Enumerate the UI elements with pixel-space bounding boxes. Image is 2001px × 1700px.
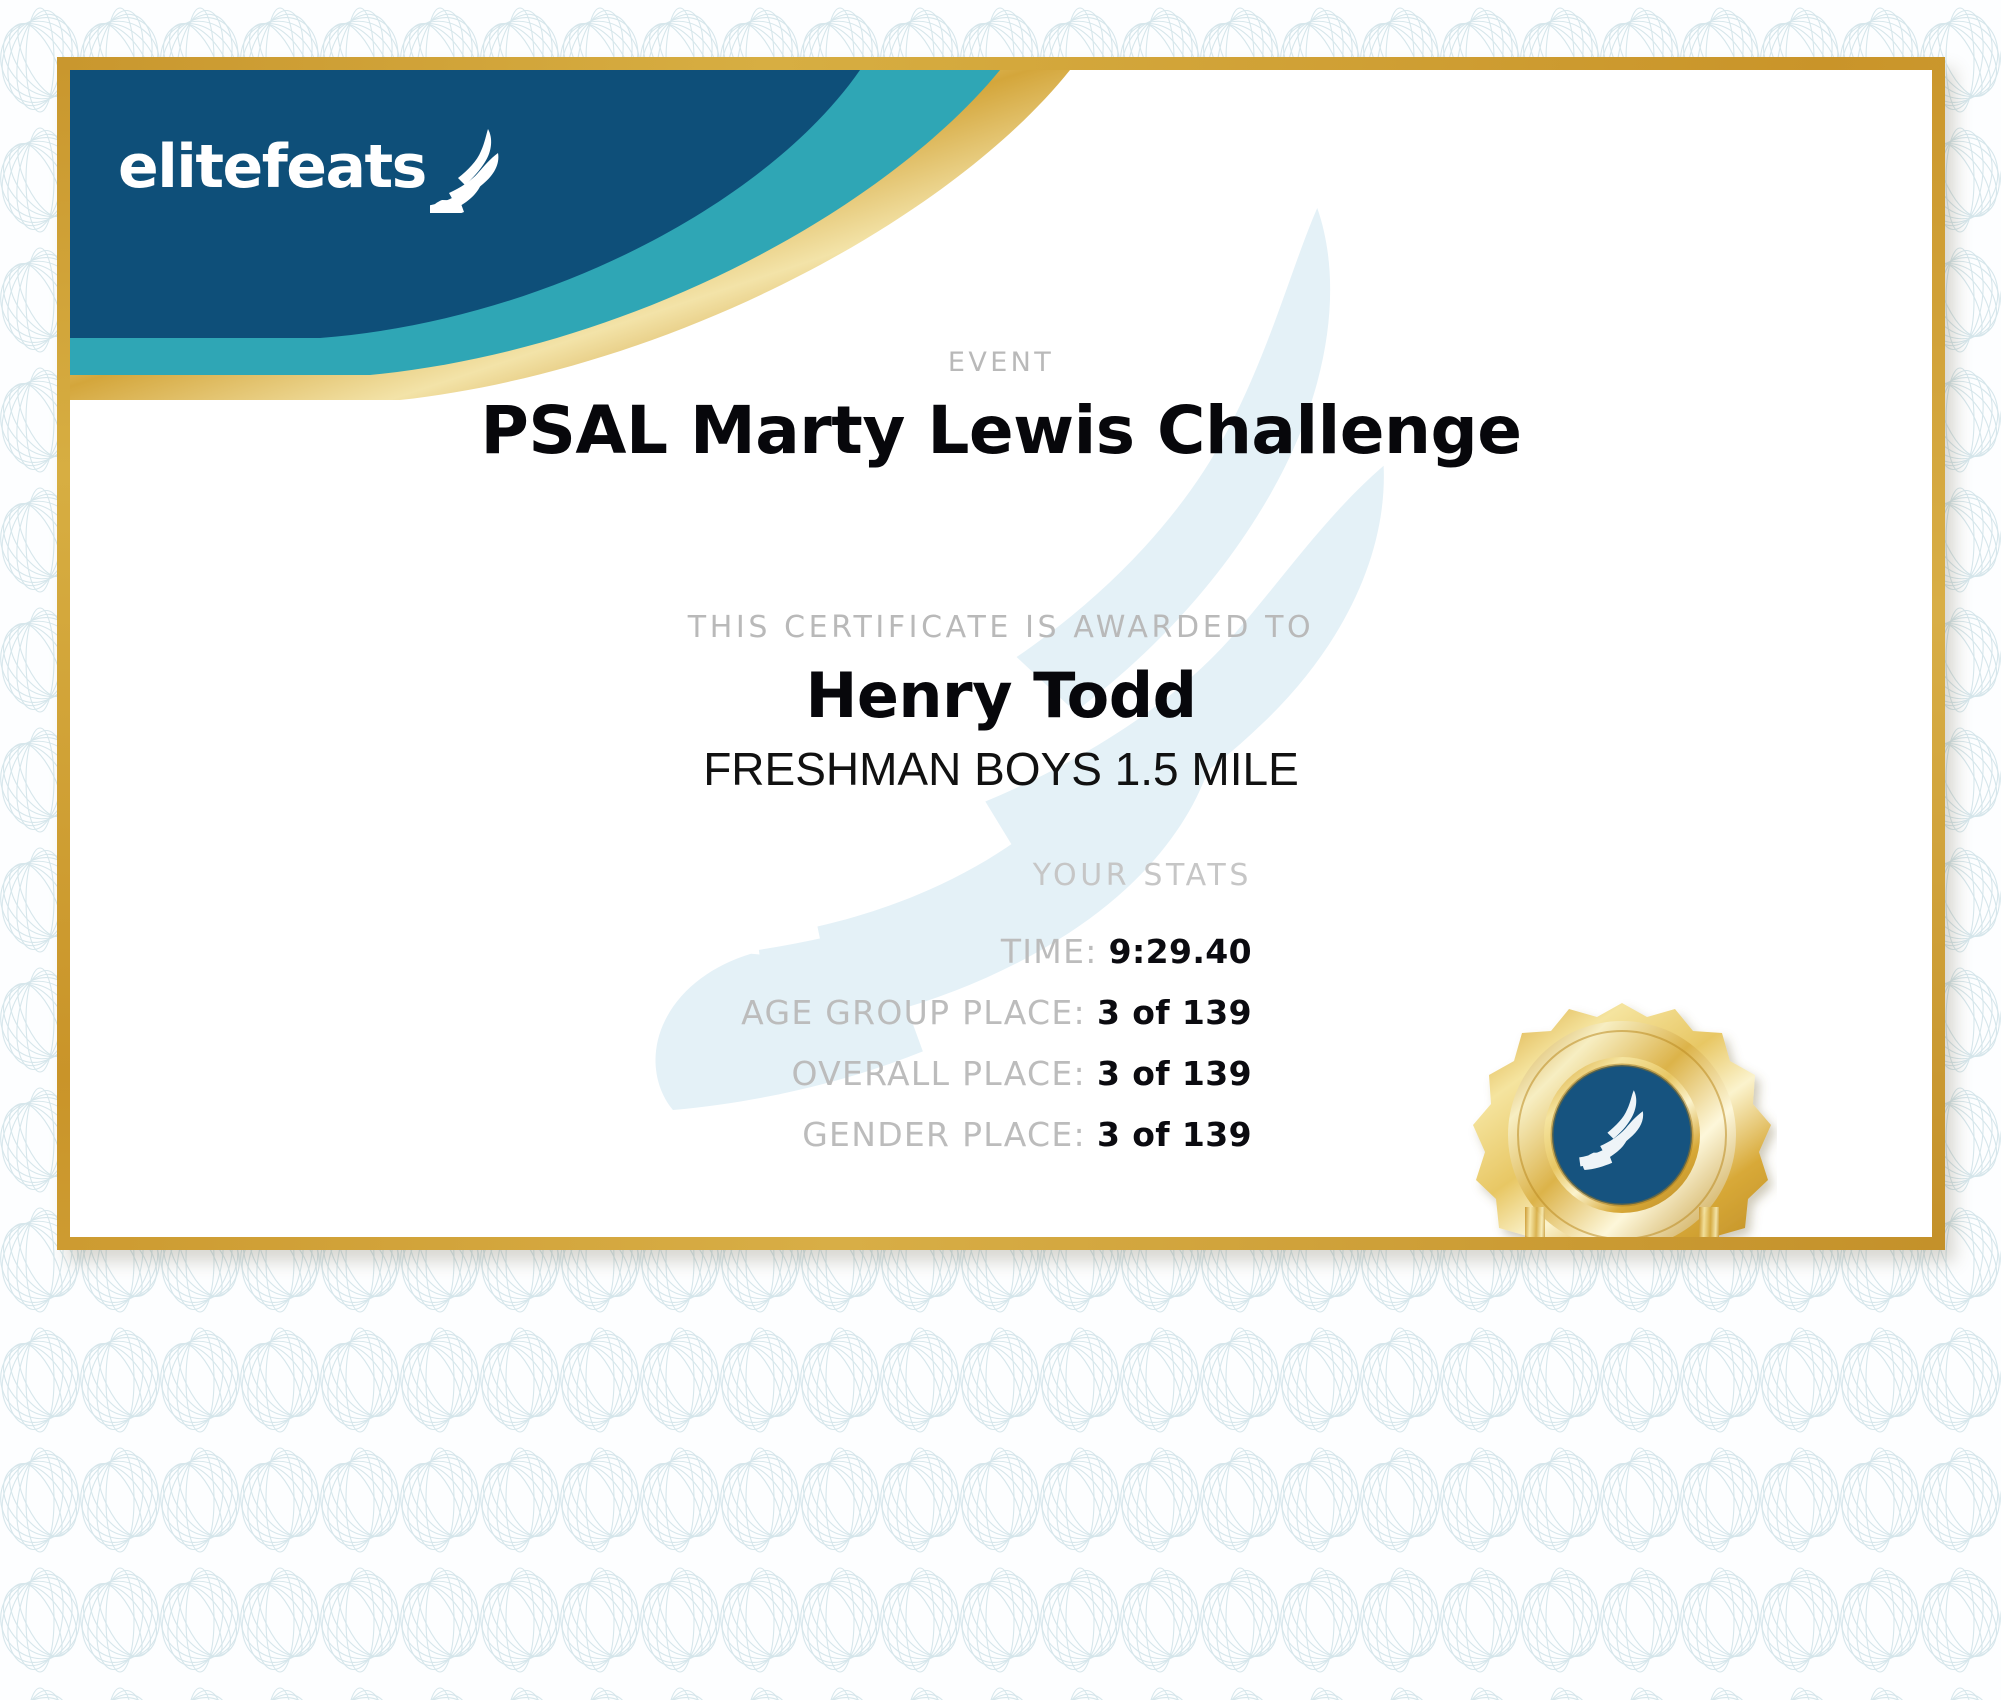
certificate-page: elitefeats EVENT PSAL Marty Lewis Challe…	[0, 0, 2001, 1700]
stat-label: TIME:	[1001, 932, 1098, 971]
event-label: EVENT	[401, 347, 1601, 378]
stats-label: YOUR STATS	[70, 858, 1252, 893]
stat-label: GENDER PLACE:	[802, 1115, 1086, 1154]
stat-row-gender-place: GENDER PLACE: 3 of 139	[802, 1115, 1252, 1154]
certificate-frame: elitefeats EVENT PSAL Marty Lewis Challe…	[57, 57, 1945, 1250]
stat-value: 9:29.40	[1109, 932, 1252, 971]
stat-label: OVERALL PLACE:	[791, 1054, 1086, 1093]
event-name: PSAL Marty Lewis Challenge	[251, 395, 1751, 468]
division-name: FRESHMAN BOYS 1.5 MILE	[251, 742, 1751, 796]
stat-row-overall-place: OVERALL PLACE: 3 of 139	[791, 1054, 1252, 1093]
stat-value: 3 of 139	[1097, 993, 1252, 1032]
awarded-to-label: THIS CERTIFICATE IS AWARDED TO	[301, 610, 1701, 645]
stats-list: TIME: 9:29.40 AGE GROUP PLACE: 3 of 139 …	[70, 932, 1252, 1154]
stat-value: 3 of 139	[1097, 1054, 1252, 1093]
stat-row-age-group-place: AGE GROUP PLACE: 3 of 139	[741, 993, 1252, 1032]
recipient-name: Henry Todd	[251, 660, 1751, 731]
certificate-content: EVENT PSAL Marty Lewis Challenge THIS CE…	[70, 70, 1932, 1237]
finisher-medal-badge: 2025 FINISHER CERTIFICATE	[1442, 995, 1802, 1250]
stat-value: 3 of 139	[1097, 1115, 1252, 1154]
stat-row-time: TIME: 9:29.40	[1001, 932, 1252, 971]
stat-label: AGE GROUP PLACE:	[741, 993, 1086, 1032]
medal-graphic: 2025	[1467, 995, 1777, 1250]
